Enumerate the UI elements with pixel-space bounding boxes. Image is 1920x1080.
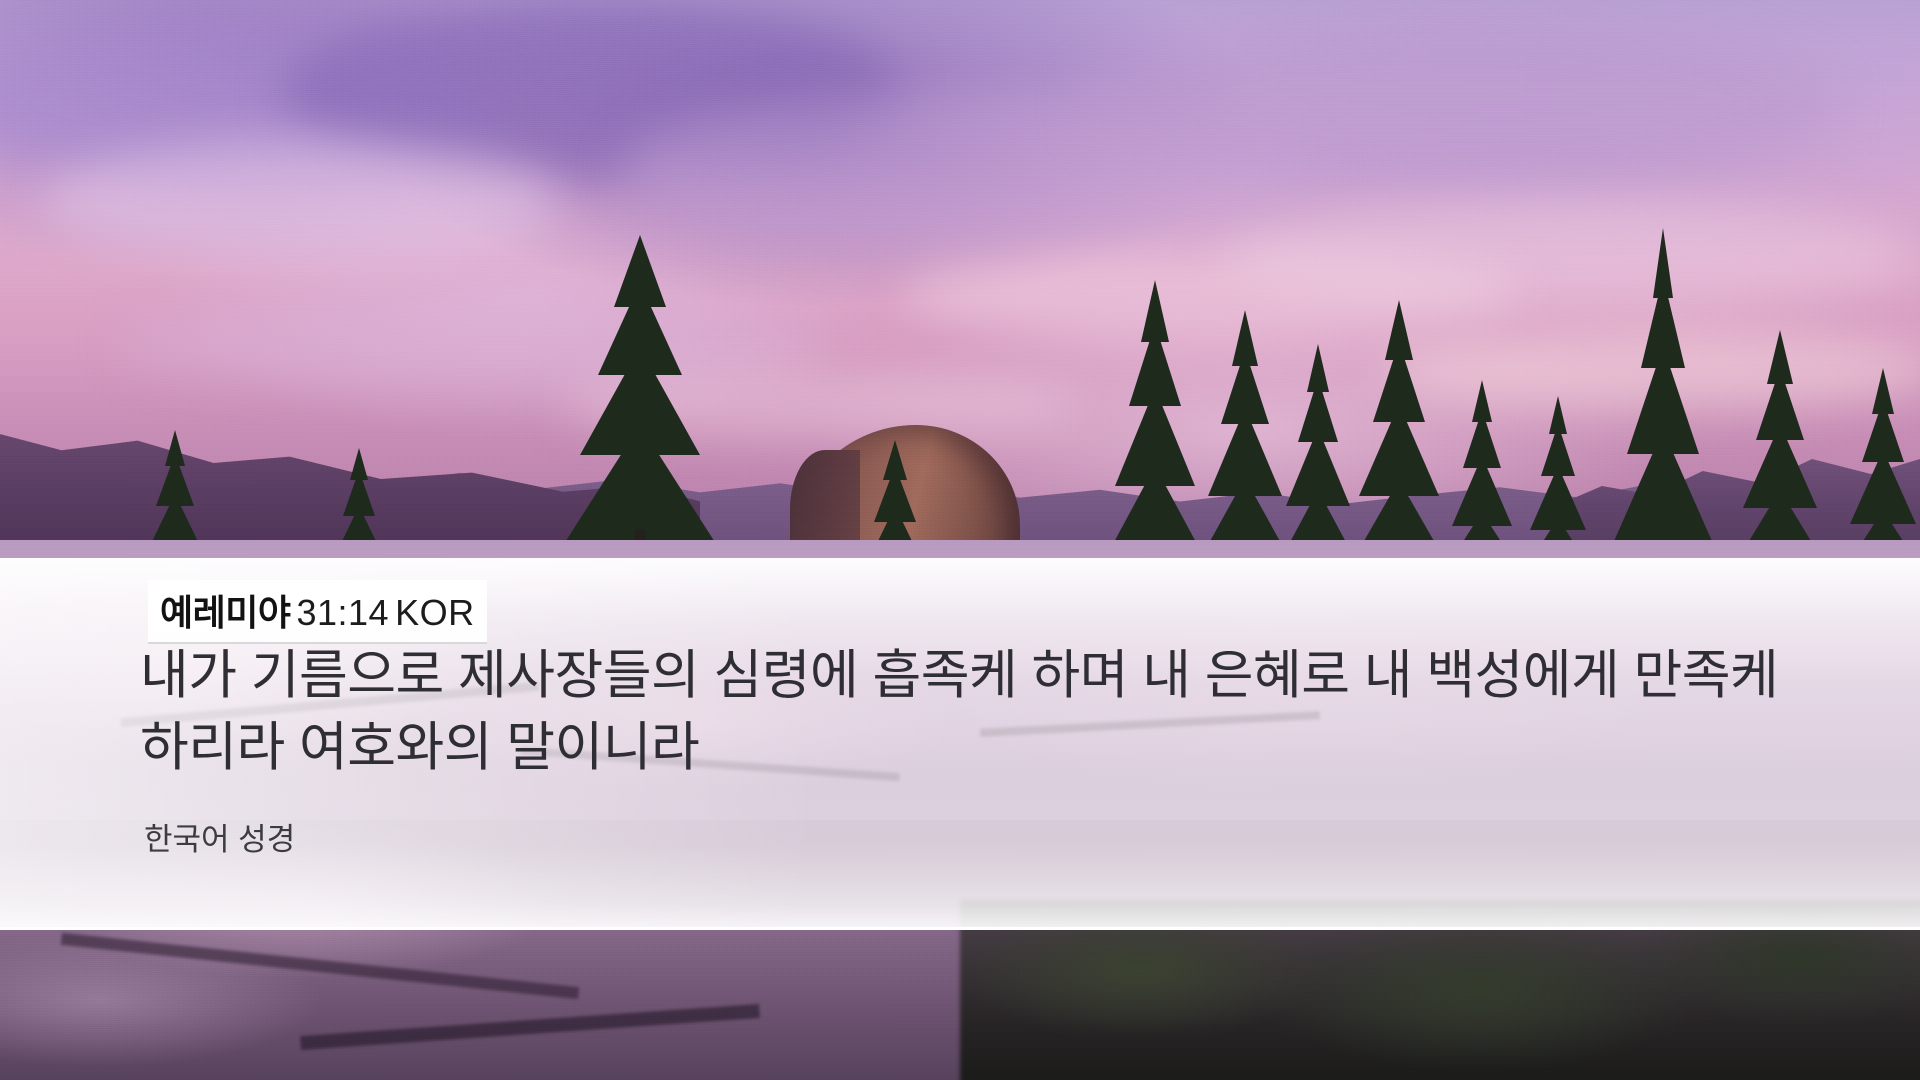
verse-body-text: 내가 기름으로 제사장들의 심령에 흡족케 하며 내 은혜로 내 백성에게 만족… <box>140 640 1820 784</box>
verse-reference-highlight: 예레미야31:14KOR <box>148 580 487 644</box>
verse-card: 예레미야31:14KOR 내가 기름으로 제사장들의 심령에 흡족케 하며 내 … <box>0 558 1920 930</box>
verse-reference-chapter-verse: 31:14 <box>296 592 389 633</box>
verse-reference-translation: KOR <box>395 592 475 633</box>
pine-tree <box>545 235 735 565</box>
verse-attribution: 한국어 성경 <box>144 814 295 859</box>
verse-reference-book: 예레미야 <box>160 592 290 633</box>
pine-tree <box>1598 228 1728 573</box>
pine-tree <box>1725 330 1835 574</box>
verse-reference: 예레미야31:14KOR <box>148 580 487 644</box>
verse-image-canvas: 예레미야31:14KOR 내가 기름으로 제사장들의 심령에 흡족케 하며 내 … <box>0 0 1920 1080</box>
